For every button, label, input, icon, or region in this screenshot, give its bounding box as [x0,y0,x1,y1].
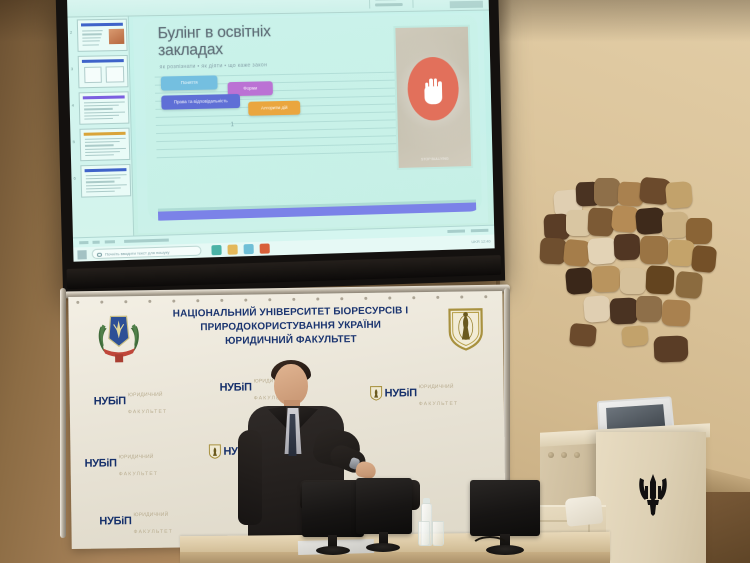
projected-desktop: 23456 Булінг в освітніх закладах як розп… [67,0,495,262]
slide-chip-actions: Алгоритм дій [248,101,300,116]
map-region [667,239,694,266]
map-region [587,237,617,265]
watermark-brand: НУБіП [385,387,417,399]
watermark-line-1: ЮРИДИЧНИЙ [128,392,163,398]
slide-title: Булінг в освітніх закладах [157,23,318,60]
map-region [665,181,693,209]
projection-screen: 23456 Булінг в освітніх закладах як розп… [56,0,506,295]
banner-rail-left [60,288,66,538]
presenter-head [274,364,308,405]
desk-front-edge [180,552,610,563]
watermark-brand: НУБіП [85,457,117,469]
slide-thumbnail[interactable]: 4 [79,91,130,124]
map-region [675,271,703,299]
map-region [594,178,620,206]
stop-hand-icon [422,74,444,104]
watermark-line-2: ФАКУЛЬТЕТ [128,409,167,415]
monitor-center[interactable] [356,478,412,534]
slide-number: 1 [231,122,235,128]
law-faculty-shield-emblem [446,305,485,352]
watermark-shield-icon [208,444,221,459]
speaker-box [565,495,604,527]
map-region [587,207,614,236]
map-region [640,236,668,264]
slide-chip-rights: Права та відповідальність [161,94,240,110]
map-region [621,325,649,347]
map-region [613,233,640,260]
slide-chip-concept: Поняття [161,75,218,90]
watermark-line-1: ЮРИДИЧНИЙ [419,384,454,390]
mail-icon[interactable] [244,244,254,254]
watermark-line-1: ЮРИДИЧНИЙ [119,454,154,460]
map-region [609,297,638,324]
ribbon-share-label [450,1,483,8]
map-region [645,265,674,294]
slide-thumbnail-number: 2 [70,30,72,35]
podium-knobs [548,452,580,458]
slide-thumbnail[interactable]: 5 [79,128,130,162]
slide-thumbnail[interactable]: 3 [78,55,129,88]
map-region [569,323,597,347]
slide-thumbnail-number: 6 [73,176,75,181]
stop-hand-image: STOP BULLYING [393,25,473,170]
monitor-right[interactable] [470,480,540,536]
map-region [565,267,593,295]
banner-watermark: НУБіПЮРИДИЧНИЙФАКУЛЬТЕТ [94,384,168,418]
banner-watermark: НУБіПЮРИДИЧНИЙФАКУЛЬТЕТ [369,376,458,411]
windows-start-icon[interactable] [77,250,86,259]
stop-caption: STOP BULLYING [399,156,472,162]
map-region [636,296,662,322]
taskbar-search-input[interactable]: Почніть вводити текст для пошуку [92,246,202,260]
map-region [691,245,717,273]
banner-watermark: НУБіПЮРИДИЧНИЙФАКУЛЬТЕТ [84,446,158,480]
drinking-glass-1 [418,521,430,546]
watermark-brand: НУБіП [99,515,131,527]
slide-thumbnail-number: 5 [73,139,75,144]
map-region [661,211,688,238]
watermark-shield-icon [370,386,383,401]
monitor-left[interactable] [302,482,364,537]
current-slide[interactable]: Булінг в освітніх закладах як розпізнати… [143,15,482,221]
map-region [635,207,665,235]
taskbar-tray[interactable]: UKR 12:40 [471,239,490,245]
folder-icon[interactable] [227,244,237,254]
monitor-left-base [316,546,350,555]
banner-title: НАЦІОНАЛЬНИЙ УНІВЕРСИТЕТ БІОРЕСУРСІВ І П… [140,304,441,350]
lecture-hall-scene: 23456 Булінг в освітніх закладах як розп… [0,0,750,563]
map-region [539,237,566,264]
browser-icon[interactable] [211,245,221,255]
map-region [620,268,646,294]
search-icon [97,252,102,257]
map-region [661,299,690,326]
watermark-line-1: ЮРИДИЧНИЙ [133,512,168,518]
slide-canvas[interactable]: Булінг в освітніх закладах як розпізнати… [133,13,488,234]
slide-thumbnail-panel[interactable]: 23456 [68,17,135,238]
watermark-line-2: ФАКУЛЬТЕТ [134,529,173,535]
watermark-brand: НУБіП [94,395,126,407]
presenter-arm-left [238,430,262,525]
slide-thumbnail-number: 3 [71,66,73,71]
slide-thumbnail[interactable]: 6 [80,164,131,198]
banner-title-line-3: ЮРИДИЧНИЙ ФАКУЛЬТЕТ [141,331,441,349]
map-region [591,265,620,292]
university-coat-of-arms [92,308,145,365]
drinking-glass-2 [432,521,444,546]
slide-thumbnail[interactable]: 2 [77,19,128,52]
wooden-map-of-ukraine [536,168,748,394]
watermark-line-2: ФАКУЛЬТЕТ [419,401,458,407]
slide-subtitle: як розпізнати • як діяти • що каже закон [159,61,335,71]
map-region [583,295,611,323]
slide-thumbnail-number: 4 [72,103,74,108]
watermark-line-2: ФАКУЛЬТЕТ [119,471,158,477]
powerpoint-icon[interactable] [260,243,270,253]
projection-surface: 23456 Булінг в освітніх закладах як розп… [67,0,495,262]
ukraine-tryzub-emblem [636,472,670,516]
map-region [653,335,688,362]
monitor-cable [470,536,510,560]
monitor-center-base [366,543,400,552]
banner-watermark: НУБіПЮРИДИЧНИЙФАКУЛЬТЕТ [99,504,173,538]
